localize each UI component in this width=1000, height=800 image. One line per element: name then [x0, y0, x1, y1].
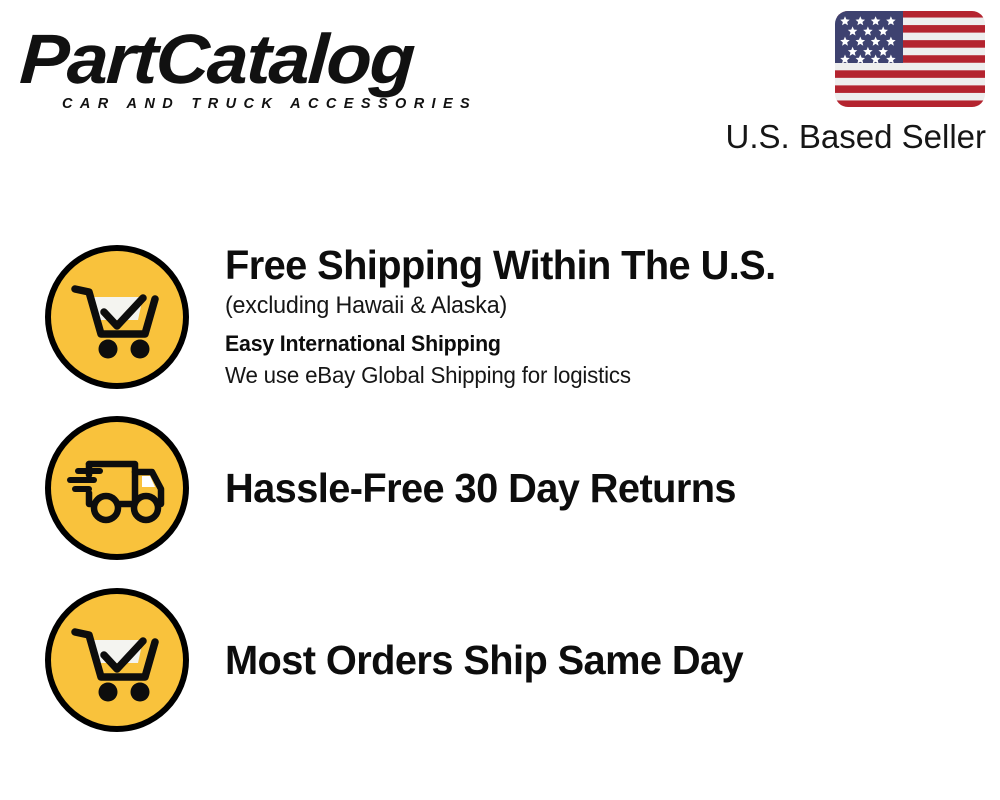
feature-subtitle-bold: Easy International Shipping	[225, 329, 977, 359]
promo-banner: PartCatalog CAR AND TRUCK ACCESSORIES	[0, 0, 1000, 800]
us-based-seller-badge: U.S. Based Seller	[716, 10, 986, 157]
feature-row: Most Orders Ship Same Day	[0, 574, 1000, 746]
brand-wordmark: PartCatalog	[18, 24, 520, 94]
shopping-cart-check-icon	[42, 242, 192, 392]
us-flag-icon	[834, 10, 986, 108]
us-based-seller-label: U.S. Based Seller	[716, 117, 986, 157]
feature-title: Hassle-Free 30 Day Returns	[225, 464, 977, 512]
brand-logo: PartCatalog CAR AND TRUCK ACCESSORIES	[22, 24, 492, 116]
feature-row: Free Shipping Within The U.S. (excluding…	[0, 232, 1000, 402]
shopping-cart-check-icon	[42, 585, 192, 735]
brand-tagline: CAR AND TRUCK ACCESSORIES	[62, 96, 492, 112]
feature-title: Free Shipping Within The U.S.	[225, 241, 977, 289]
feature-title: Most Orders Ship Same Day	[225, 636, 977, 684]
feature-text: Most Orders Ship Same Day	[192, 634, 1000, 686]
feature-text: Free Shipping Within The U.S. (excluding…	[192, 241, 1000, 393]
delivery-truck-icon	[42, 413, 192, 563]
feature-row: Hassle-Free 30 Day Returns	[0, 402, 1000, 574]
feature-note: (excluding Hawaii & Alaska)	[225, 289, 977, 322]
feature-text: Hassle-Free 30 Day Returns	[192, 462, 1000, 514]
feature-list: Free Shipping Within The U.S. (excluding…	[0, 232, 1000, 746]
feature-subtitle-light: We use eBay Global Shipping for logistic…	[225, 359, 977, 391]
